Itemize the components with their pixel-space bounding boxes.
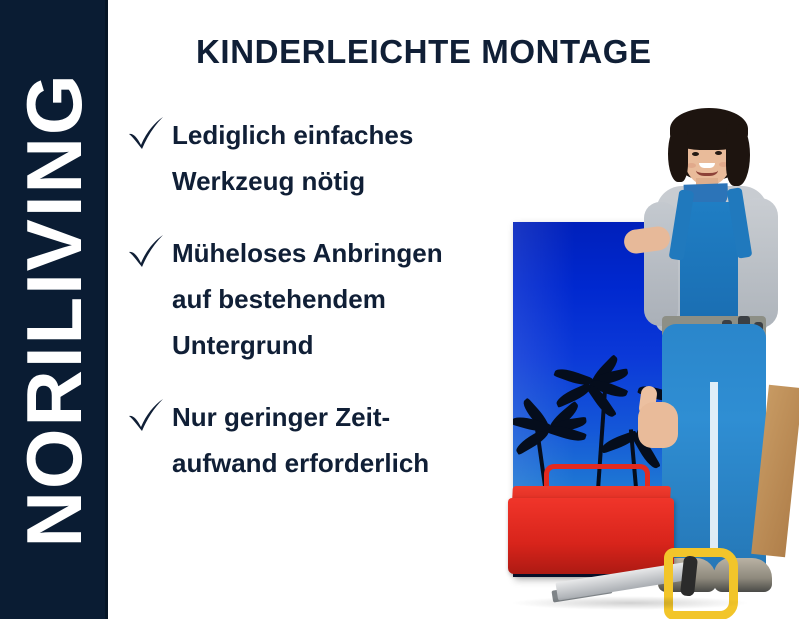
poster-canvas: NORILIVING KINDERLEICHTE MONTAGE Ledigli…: [0, 0, 799, 619]
list-item-line: Lediglich einfaches: [172, 112, 506, 158]
smile: [696, 162, 718, 176]
hair-side: [726, 124, 750, 186]
cheek: [687, 163, 696, 168]
list-item-line: Untergrund: [172, 322, 506, 368]
check-icon: [126, 232, 172, 272]
list-item: Nur geringer Zeit- aufwand erforderlich: [126, 394, 506, 486]
list-item-line: Nur geringer Zeit-: [172, 394, 506, 440]
benefit-list: Lediglich einfaches Werkzeug nötig Mühel…: [126, 112, 506, 512]
brand-band: NORILIVING: [0, 0, 108, 619]
sleeve-left: [644, 202, 678, 326]
product-photo: [500, 96, 799, 619]
list-item-text: Müheloses Anbringen auf bestehendem Unte…: [172, 230, 506, 368]
list-item-line: Müheloses Anbringen: [172, 230, 506, 276]
brand-band-edge: [105, 0, 108, 619]
list-item-line: aufwand erforderlich: [172, 440, 506, 486]
list-item-line: auf bestehendem: [172, 276, 506, 322]
list-item: Müheloses Anbringen auf bestehendem Unte…: [126, 230, 506, 368]
list-item: Lediglich einfaches Werkzeug nötig: [126, 112, 506, 204]
ground-shadow: [510, 596, 750, 610]
check-icon: [126, 396, 172, 436]
list-item-text: Lediglich einfaches Werkzeug nötig: [172, 112, 506, 204]
leg-gap: [710, 382, 718, 554]
brand-name: NORILIVING: [15, 72, 93, 547]
eye: [692, 152, 699, 156]
list-item-line: Werkzeug nötig: [172, 158, 506, 204]
thumbs-up-hand: [638, 402, 678, 448]
list-item-text: Nur geringer Zeit- aufwand erforderlich: [172, 394, 506, 486]
hair-side: [668, 126, 688, 182]
page-title: KINDERLEICHTE MONTAGE: [196, 33, 652, 71]
eye: [715, 151, 722, 155]
check-icon: [126, 114, 172, 154]
